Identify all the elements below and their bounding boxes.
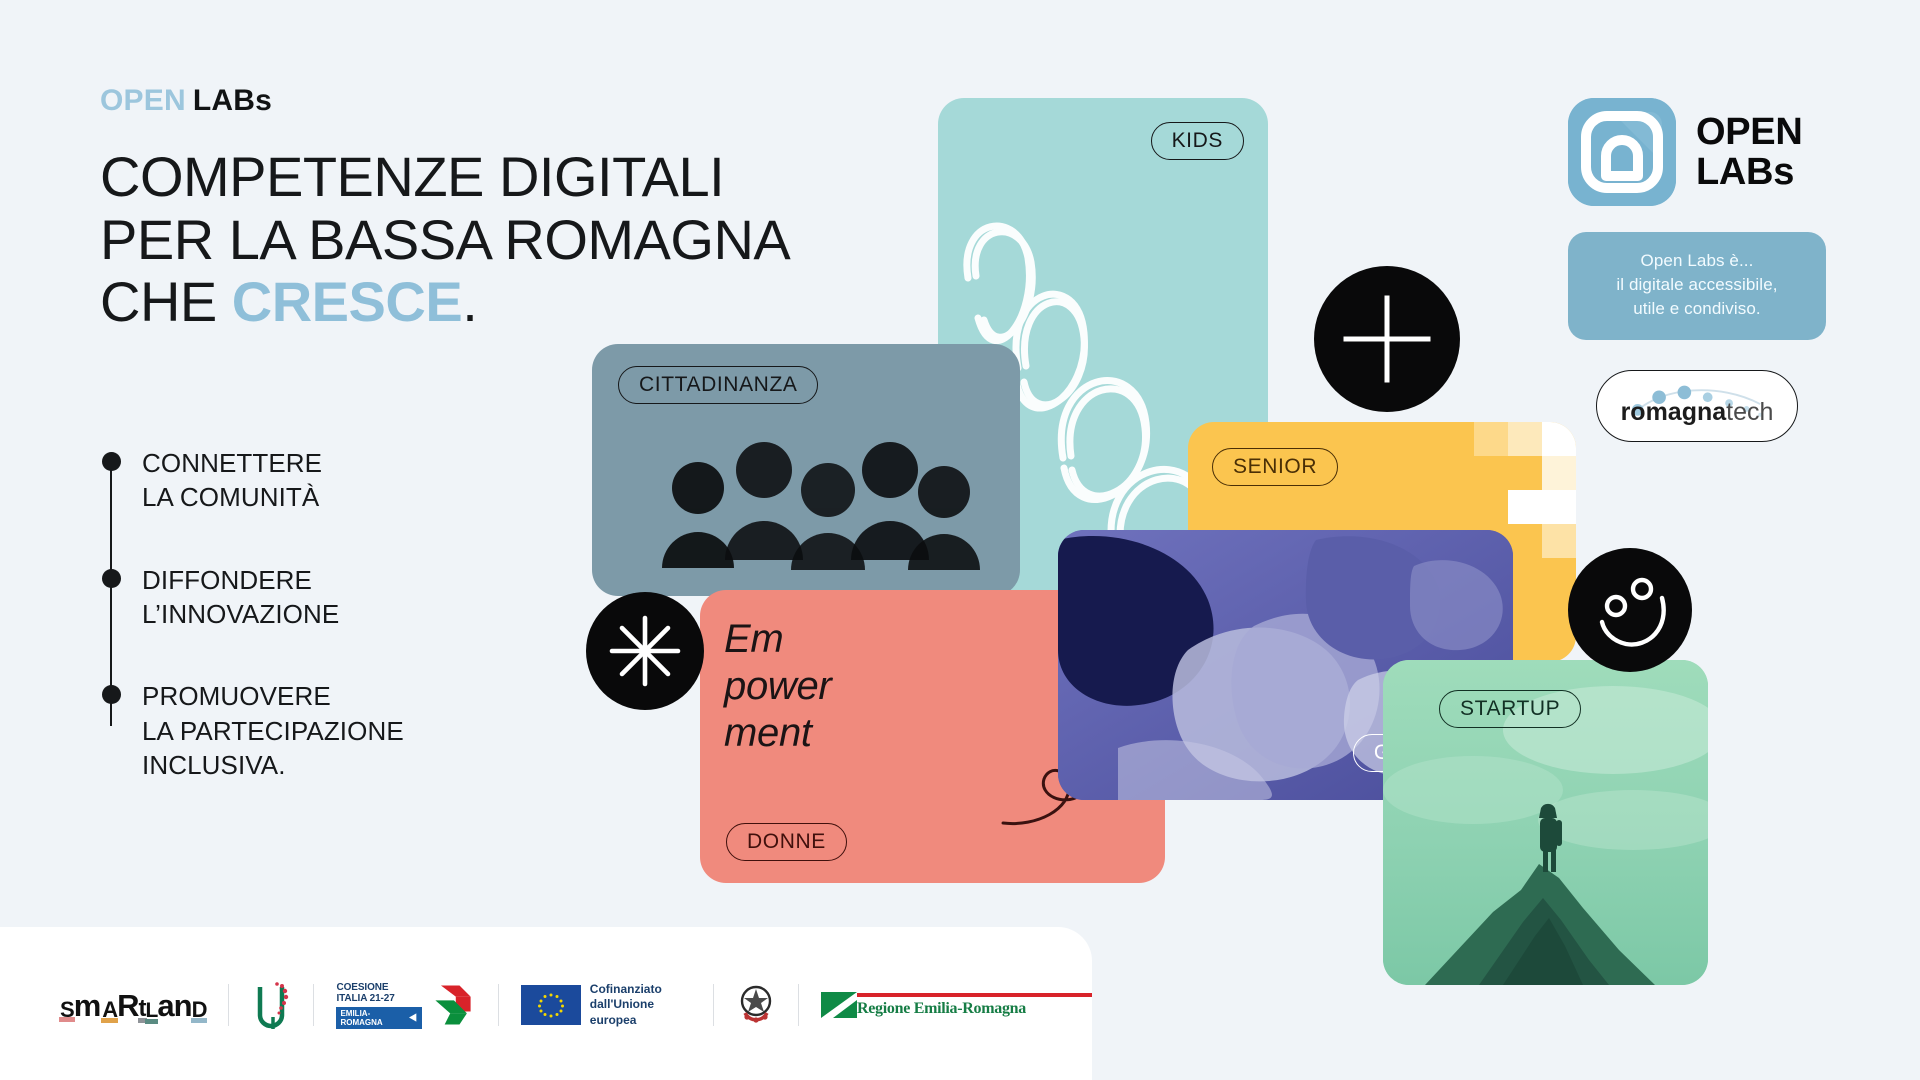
card-label-cittadinanza: CITTADINANZA bbox=[618, 366, 818, 404]
headline-line-2: PER LA BASSA ROMAGNA bbox=[100, 209, 860, 272]
list-item-label: DIFFONDERE L’INNOVAZIONE bbox=[142, 565, 339, 629]
card-label-donne: DONNE bbox=[726, 823, 847, 861]
logo-coesione-italia[interactable]: COESIONE ITALIA 21-27 EMILIA-ROMAGNA bbox=[336, 982, 475, 1029]
romagnatech-bold: romagna bbox=[1621, 398, 1727, 426]
headline-line-3: CHE CRESCE. bbox=[100, 271, 860, 334]
list-item: CONNETTERE LA COMUNITÀ bbox=[100, 446, 720, 515]
smiley-face-icon bbox=[1568, 548, 1692, 672]
footer-divider bbox=[713, 984, 714, 1026]
list-item: DIFFONDERE L’INNOVAZIONE bbox=[100, 563, 720, 632]
headline-accent-word: CRESCE bbox=[232, 270, 462, 333]
headline-line3-suffix: . bbox=[462, 270, 477, 333]
footer-divider bbox=[498, 984, 499, 1026]
footer-logo-strip: S m A R t L a n D bbox=[60, 977, 1092, 1033]
footer-divider bbox=[313, 984, 314, 1026]
romagnatech-wordmark: romagnatech bbox=[1621, 398, 1774, 427]
bullet-dot-icon bbox=[102, 452, 121, 471]
list-item-label: CONNETTERE LA COMUNITÀ bbox=[142, 448, 322, 512]
eu-flag-icon bbox=[521, 985, 581, 1025]
logo-repubblica-italiana[interactable] bbox=[736, 981, 776, 1029]
brand-wordmark: OPEN LABs bbox=[1696, 112, 1803, 193]
benefits-list: CONNETTERE LA COMUNITÀ DIFFONDERE L’INNO… bbox=[100, 446, 720, 782]
romagnatech-light: tech bbox=[1726, 398, 1773, 426]
list-item: PROMUOVERE LA PARTECIPAZIONE INCLUSIVA. bbox=[100, 679, 720, 782]
coesione-band-label: EMILIA-ROMAGNA bbox=[340, 1009, 406, 1027]
footer-divider bbox=[798, 984, 799, 1026]
logo-regione-emilia-romagna[interactable]: Regione Emilia-Romagna bbox=[821, 990, 1092, 1020]
card-startup[interactable]: STARTUP bbox=[1383, 660, 1708, 985]
eyebrow-open: OPEN bbox=[100, 84, 186, 117]
badge-smiley[interactable] bbox=[1568, 548, 1692, 672]
logo-unione-europea[interactable]: Cofinanziato dall'Unione europea bbox=[521, 982, 691, 1029]
brand-tagline: Open Labs è... il digitale accessibile, … bbox=[1568, 232, 1826, 340]
list-item-label: PROMUOVERE LA PARTECIPAZIONE INCLUSIVA. bbox=[142, 681, 404, 780]
emilia-romagna-u-icon bbox=[251, 977, 291, 1033]
page-title: COMPETENZE DIGITALI PER LA BASSA ROMAGNA… bbox=[100, 146, 860, 334]
eyebrow-labs: LABs bbox=[193, 84, 272, 117]
plus-icon bbox=[1314, 266, 1460, 412]
headline-line3-prefix: CHE bbox=[100, 270, 232, 333]
badge-plus[interactable] bbox=[1314, 266, 1460, 412]
brand-block: OPEN LABs Open Labs è... il digitale acc… bbox=[1568, 98, 1868, 442]
eyebrow-openlabs: OPENLABs bbox=[100, 86, 860, 116]
coesione-chevrons-icon bbox=[428, 982, 476, 1028]
coesione-line-2: ITALIA 21-27 bbox=[336, 993, 421, 1005]
footer-panel: S m A R t L a n D bbox=[0, 927, 1092, 1080]
headline-line-1: COMPETENZE DIGITALI bbox=[100, 146, 860, 209]
card-label-senior: SENIOR bbox=[1212, 448, 1338, 486]
card-label-startup: STARTUP bbox=[1439, 690, 1581, 728]
partner-logo-romagnatech[interactable]: romagnatech bbox=[1596, 370, 1798, 442]
arrow-left-icon bbox=[409, 1013, 417, 1022]
regione-red-bar bbox=[857, 993, 1092, 997]
coesione-text-block: COESIONE ITALIA 21-27 EMILIA-ROMAGNA bbox=[336, 982, 421, 1029]
footer-divider bbox=[228, 984, 229, 1026]
openlabs-arch-mark-icon bbox=[1568, 98, 1676, 206]
coesione-band: EMILIA-ROMAGNA bbox=[336, 1007, 421, 1029]
eu-label: Cofinanziato dall'Unione europea bbox=[590, 982, 691, 1029]
empowerment-title: Em power ment bbox=[724, 616, 831, 756]
hero-text-column: OPENLABs COMPETENZE DIGITALI PER LA BASS… bbox=[100, 86, 860, 334]
regione-label: Regione Emilia-Romagna bbox=[857, 1000, 1092, 1018]
regione-mark-icon bbox=[821, 990, 857, 1020]
brand-logo-row: OPEN LABs bbox=[1568, 98, 1868, 206]
coesione-line-1: COESIONE bbox=[336, 982, 421, 994]
logo-smartland[interactable]: S m A R t L a n D bbox=[60, 990, 206, 1021]
logo-emilia-romagna-u[interactable] bbox=[251, 977, 291, 1033]
card-label-kids: KIDS bbox=[1151, 122, 1244, 160]
repubblica-emblem-icon bbox=[736, 981, 776, 1029]
bullet-dot-icon bbox=[102, 569, 121, 588]
bullet-dot-icon bbox=[102, 685, 121, 704]
